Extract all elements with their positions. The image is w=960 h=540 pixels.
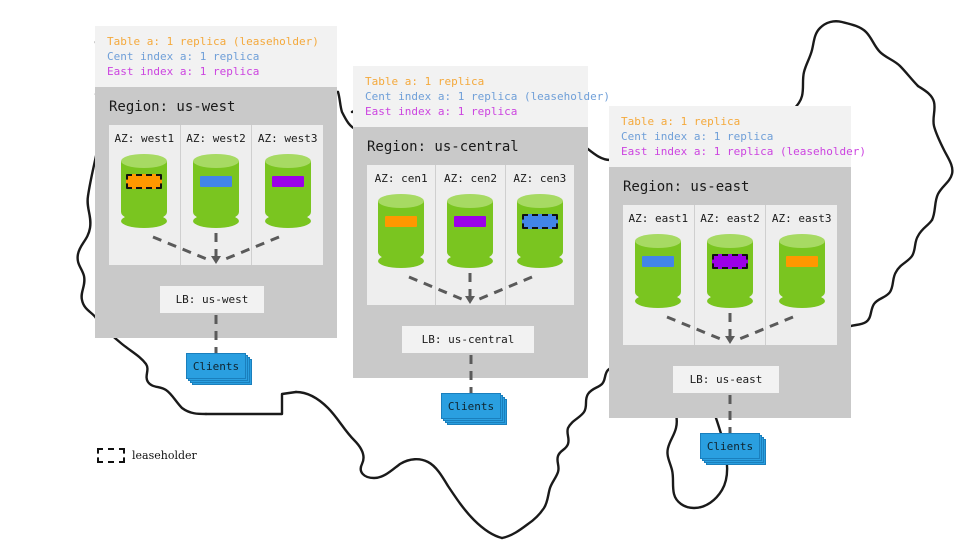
replica-bar-leaseholder	[712, 254, 748, 269]
node-cylinder[interactable]	[193, 154, 239, 228]
replica-line-table: Table a: 1 replica (leaseholder)	[107, 34, 327, 49]
load-balancer-us-central[interactable]: LB: us-central	[402, 326, 534, 353]
region-title-us-central: Region: us-central	[353, 127, 588, 165]
node-cylinder[interactable]	[635, 234, 681, 308]
cylinder-top	[779, 234, 825, 248]
az-cen2[interactable]: AZ: cen2	[435, 165, 504, 305]
az-label: AZ: cen2	[436, 172, 504, 185]
node-cylinder[interactable]	[707, 234, 753, 308]
replica-legend-us-east: Table a: 1 replica Cent index a: 1 repli…	[609, 106, 851, 167]
node-cylinder[interactable]	[447, 194, 493, 268]
node-cylinder[interactable]	[779, 234, 825, 308]
node-cylinder[interactable]	[378, 194, 424, 268]
clients-label: Clients	[707, 440, 753, 453]
cylinder-body	[635, 241, 681, 301]
clients-label: Clients	[448, 400, 494, 413]
region-body-us-east: Region: us-east AZ: east1 AZ: east2	[609, 167, 851, 418]
cylinder-top	[635, 234, 681, 248]
region-panel-us-west: Table a: 1 replica (leaseholder) Cent in…	[95, 26, 337, 338]
az-west1[interactable]: AZ: west1	[109, 125, 180, 265]
region-title-us-east: Region: us-east	[609, 167, 851, 205]
replica-bar	[200, 176, 232, 187]
leaseholder-legend: leaseholder	[97, 448, 197, 463]
az-label: AZ: cen3	[506, 172, 574, 185]
az-label: AZ: east3	[766, 212, 837, 225]
replica-legend-us-central: Table a: 1 replica Cent index a: 1 repli…	[353, 66, 588, 127]
az-label: AZ: east2	[695, 212, 766, 225]
replica-bar	[272, 176, 304, 187]
az-cen3[interactable]: AZ: cen3	[505, 165, 574, 305]
lb-to-clients-connector	[468, 355, 474, 393]
replica-legend-us-west: Table a: 1 replica (leaseholder) Cent in…	[95, 26, 337, 87]
node-cylinder[interactable]	[265, 154, 311, 228]
replica-line-east-index: East index a: 1 replica	[365, 104, 578, 119]
cylinder-body	[121, 161, 167, 221]
az-label: AZ: west1	[109, 132, 180, 145]
node-cylinder[interactable]	[121, 154, 167, 228]
leaseholder-swatch-icon	[97, 448, 125, 463]
load-balancer-us-west[interactable]: LB: us-west	[160, 286, 264, 313]
clients-group-us-east[interactable]: Clients	[700, 433, 760, 459]
lb-label: LB: us-central	[422, 333, 515, 346]
region-panel-us-central: Table a: 1 replica Cent index a: 1 repli…	[353, 66, 588, 378]
replica-line-cent-index: Cent index a: 1 replica	[107, 49, 327, 64]
replica-bar	[385, 216, 417, 227]
region-panel-us-east: Table a: 1 replica Cent index a: 1 repli…	[609, 106, 851, 418]
az-label: AZ: west2	[181, 132, 252, 145]
az-label: AZ: west3	[252, 132, 323, 145]
clients-card[interactable]: Clients	[700, 433, 760, 459]
replica-line-cent-index: Cent index a: 1 replica (leaseholder)	[365, 89, 578, 104]
cylinder-body	[779, 241, 825, 301]
lb-label: LB: us-west	[176, 293, 249, 306]
replica-bar-leaseholder	[522, 214, 558, 229]
load-balancer-us-east[interactable]: LB: us-east	[673, 366, 779, 393]
node-cylinder[interactable]	[517, 194, 563, 268]
replica-line-table: Table a: 1 replica	[365, 74, 578, 89]
cylinder-top	[193, 154, 239, 168]
replica-bar	[786, 256, 818, 267]
clients-label: Clients	[193, 360, 239, 373]
replica-line-east-index: East index a: 1 replica	[107, 64, 327, 79]
az-east2[interactable]: AZ: east2	[694, 205, 766, 345]
clients-card[interactable]: Clients	[186, 353, 246, 379]
lb-to-clients-connector	[727, 395, 733, 433]
az-label: AZ: cen1	[367, 172, 435, 185]
clients-card[interactable]: Clients	[441, 393, 501, 419]
replica-bar-leaseholder	[126, 174, 162, 189]
az-row-us-east: AZ: east1 AZ: east2	[623, 205, 837, 345]
az-row-us-west: AZ: west1 AZ: west2	[109, 125, 323, 265]
cylinder-body	[265, 161, 311, 221]
cylinder-top	[121, 154, 167, 168]
clients-group-us-central[interactable]: Clients	[441, 393, 501, 419]
cylinder-top	[707, 234, 753, 248]
az-west3[interactable]: AZ: west3	[251, 125, 323, 265]
az-cen1[interactable]: AZ: cen1	[367, 165, 435, 305]
az-west2[interactable]: AZ: west2	[180, 125, 252, 265]
cylinder-top	[265, 154, 311, 168]
lb-to-clients-connector	[213, 315, 219, 353]
cylinder-body	[193, 161, 239, 221]
cylinder-body	[517, 201, 563, 261]
replica-bar	[454, 216, 486, 227]
replica-line-east-index: East index a: 1 replica (leaseholder)	[621, 144, 841, 159]
az-east3[interactable]: AZ: east3	[765, 205, 837, 345]
region-title-us-west: Region: us-west	[95, 87, 337, 125]
leaseholder-legend-label: leaseholder	[132, 449, 197, 462]
region-body-us-west: Region: us-west AZ: west1 AZ: west2	[95, 87, 337, 338]
clients-group-us-west[interactable]: Clients	[186, 353, 246, 379]
cylinder-top	[517, 194, 563, 208]
cylinder-body	[378, 201, 424, 261]
region-body-us-central: Region: us-central AZ: cen1 AZ: cen2	[353, 127, 588, 378]
replica-bar	[642, 256, 674, 267]
replica-line-table: Table a: 1 replica	[621, 114, 841, 129]
cylinder-body	[447, 201, 493, 261]
diagram-canvas: Table a: 1 replica (leaseholder) Cent in…	[0, 0, 960, 540]
cylinder-top	[378, 194, 424, 208]
cylinder-body	[707, 241, 753, 301]
az-east1[interactable]: AZ: east1	[623, 205, 694, 345]
az-row-us-central: AZ: cen1 AZ: cen2	[367, 165, 574, 305]
lb-label: LB: us-east	[690, 373, 763, 386]
replica-line-cent-index: Cent index a: 1 replica	[621, 129, 841, 144]
az-label: AZ: east1	[623, 212, 694, 225]
